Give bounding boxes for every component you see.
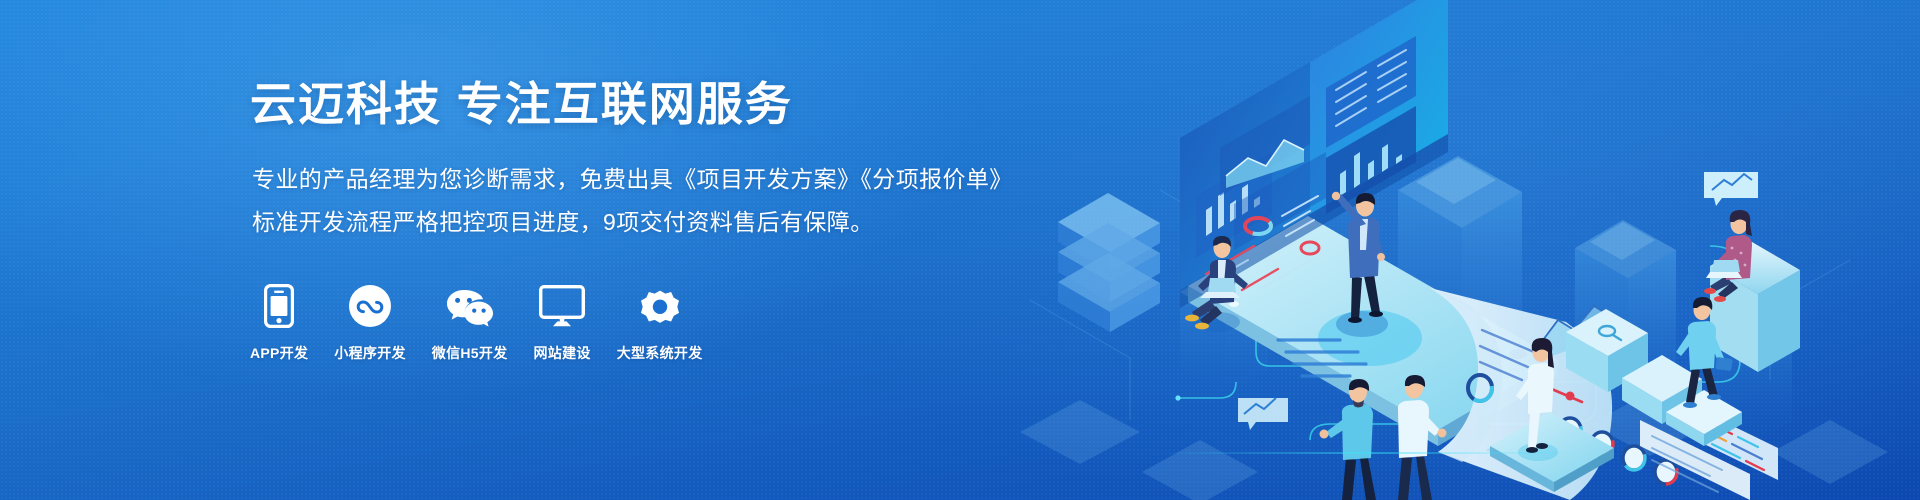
banner-content: 云迈科技 专注互联网服务 专业的产品经理为您诊断需求，免费出具《项目开发方案》《… — [250, 0, 1010, 500]
subtitle-line-1: 专业的产品经理为您诊断需求，免费出具《项目开发方案》《分项报价单》 — [252, 168, 1013, 191]
service-label: 大型系统开发 — [617, 343, 703, 363]
hero-banner: 云迈科技 专注互联网服务 专业的产品经理为您诊断需求，免费出具《项目开发方案》《… — [0, 0, 1920, 500]
page-title: 云迈科技 专注互联网服务 — [250, 78, 793, 131]
subtitle-line-2: 标准开发流程严格把控项目进度，9项交付资料售后有保障。 — [252, 211, 874, 234]
mobile-phone-icon — [264, 283, 294, 329]
person-on-pedestal-with-laptop — [1704, 172, 1800, 372]
service-label: 微信H5开发 — [432, 343, 508, 363]
chat-bubble-chart — [1704, 172, 1758, 206]
service-item-website[interactable]: 网站建设 — [534, 283, 591, 363]
service-label: 网站建设 — [534, 343, 591, 363]
service-item-wechat[interactable]: 微信H5开发 — [432, 283, 508, 363]
wechat-icon — [445, 283, 495, 329]
isometric-digital-business-illustration — [1010, 0, 1920, 500]
service-item-app[interactable]: APP开发 — [250, 283, 308, 363]
floating-chart-bubble — [1238, 398, 1288, 430]
service-list: APP开发 小程序开发 — [250, 283, 703, 363]
service-item-system[interactable]: 大型系统开发 — [617, 283, 703, 363]
server-stack — [1058, 193, 1160, 332]
gear-icon — [638, 283, 682, 329]
mini-program-icon — [348, 283, 392, 329]
service-label: 小程序开发 — [334, 343, 406, 363]
service-item-miniprogram[interactable]: 小程序开发 — [334, 283, 406, 363]
monitor-icon — [539, 283, 585, 329]
service-label: APP开发 — [250, 343, 308, 363]
